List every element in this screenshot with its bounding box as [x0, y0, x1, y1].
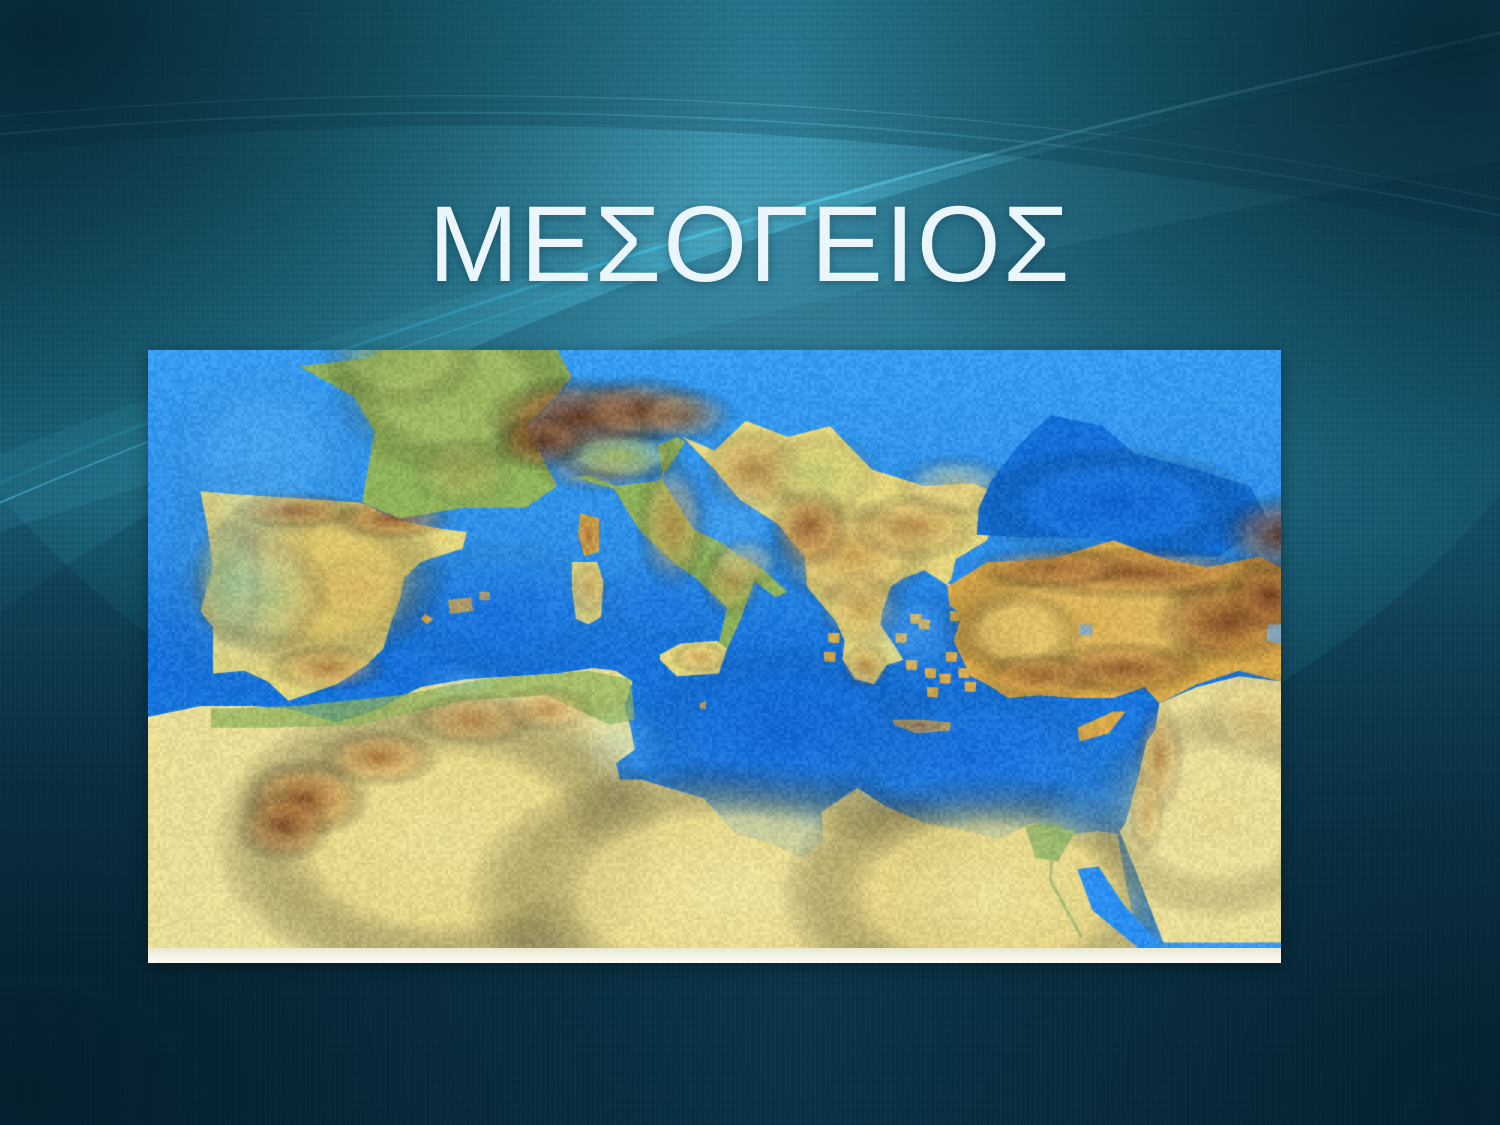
map-frame-bottom-border — [148, 948, 1281, 963]
mediterranean-relief-map — [148, 350, 1281, 948]
presentation-slide: ΜΕΣΟΓΕΙΟΣ — [0, 0, 1500, 1125]
slide-title: ΜΕΣΟΓΕΙΟΣ — [0, 186, 1500, 303]
map-image-frame[interactable] — [148, 350, 1281, 963]
